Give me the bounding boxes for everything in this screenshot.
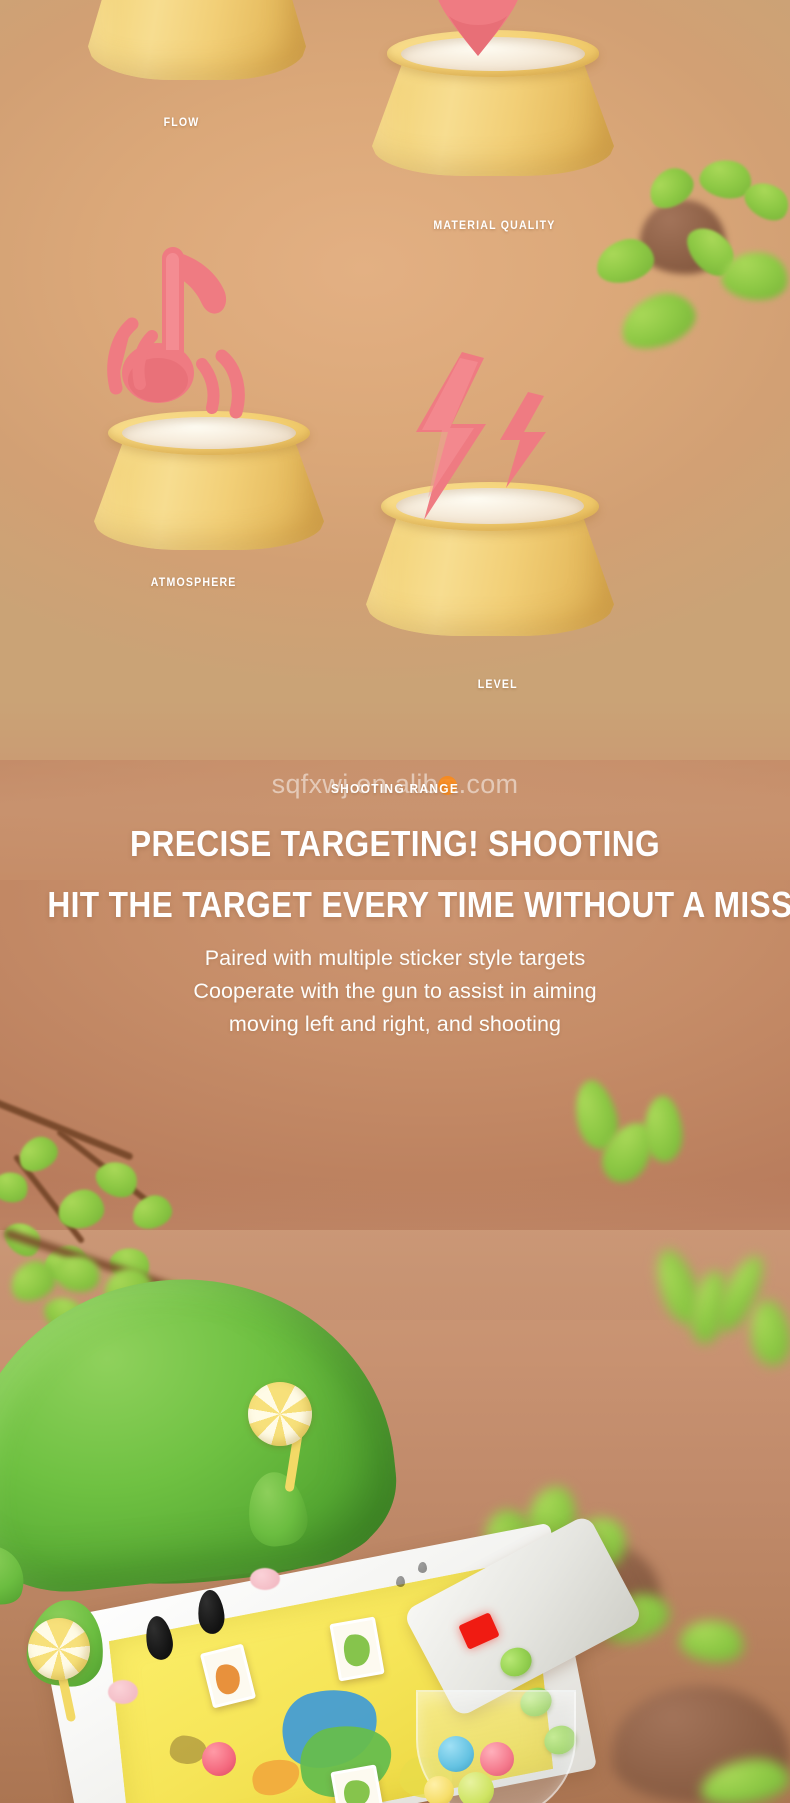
dinosaur-nostril	[418, 1562, 427, 1573]
pedestal-flow	[88, 0, 306, 80]
lollipop-left[interactable]	[28, 1618, 90, 1680]
pedestal-material-quality	[372, 40, 614, 176]
game-ball-blue[interactable]	[438, 1736, 474, 1772]
feature-label-shooting-range: SHOOTING RANGE	[32, 781, 759, 796]
game-ball-gold[interactable]	[424, 1776, 454, 1803]
description-line-1: Paired with multiple sticker style targe…	[0, 942, 790, 975]
dinosaur-nostril	[396, 1576, 405, 1587]
feature-label-flow: FLOW	[164, 117, 200, 129]
dinosaur-cheek-left	[108, 1680, 138, 1704]
pedestal-body	[88, 0, 306, 80]
headline-line-1: PRECISE TARGETING! SHOOTING	[47, 823, 742, 865]
heart-pin-icon	[422, 0, 534, 58]
description-block: Paired with multiple sticker style targe…	[0, 942, 790, 1041]
game-ball-pink[interactable]	[202, 1742, 236, 1776]
feature-label-material-quality: MATERIAL QUALITY	[433, 220, 555, 232]
game-ball-yellow[interactable]	[458, 1772, 494, 1803]
lollipop-top[interactable]	[248, 1382, 312, 1446]
dinosaur-cheek-right	[250, 1568, 280, 1590]
feature-label-atmosphere: ATMOSPHERE	[151, 577, 237, 589]
description-line-2: Cooperate with the gun to assist in aimi…	[0, 975, 790, 1008]
product-detail-page: FLOW MATERIAL QUALITY A	[0, 0, 790, 1803]
lightning-bolt-icon	[390, 348, 562, 532]
music-note-icon	[96, 238, 276, 448]
description-line-3: moving left and right, and shooting	[0, 1008, 790, 1041]
headline-line-2: HIT THE TARGET EVERY TIME WITHOUT A MISS	[47, 884, 742, 926]
game-ball-pink-2[interactable]	[480, 1742, 514, 1776]
feature-label-level: LEVEL	[478, 679, 518, 691]
